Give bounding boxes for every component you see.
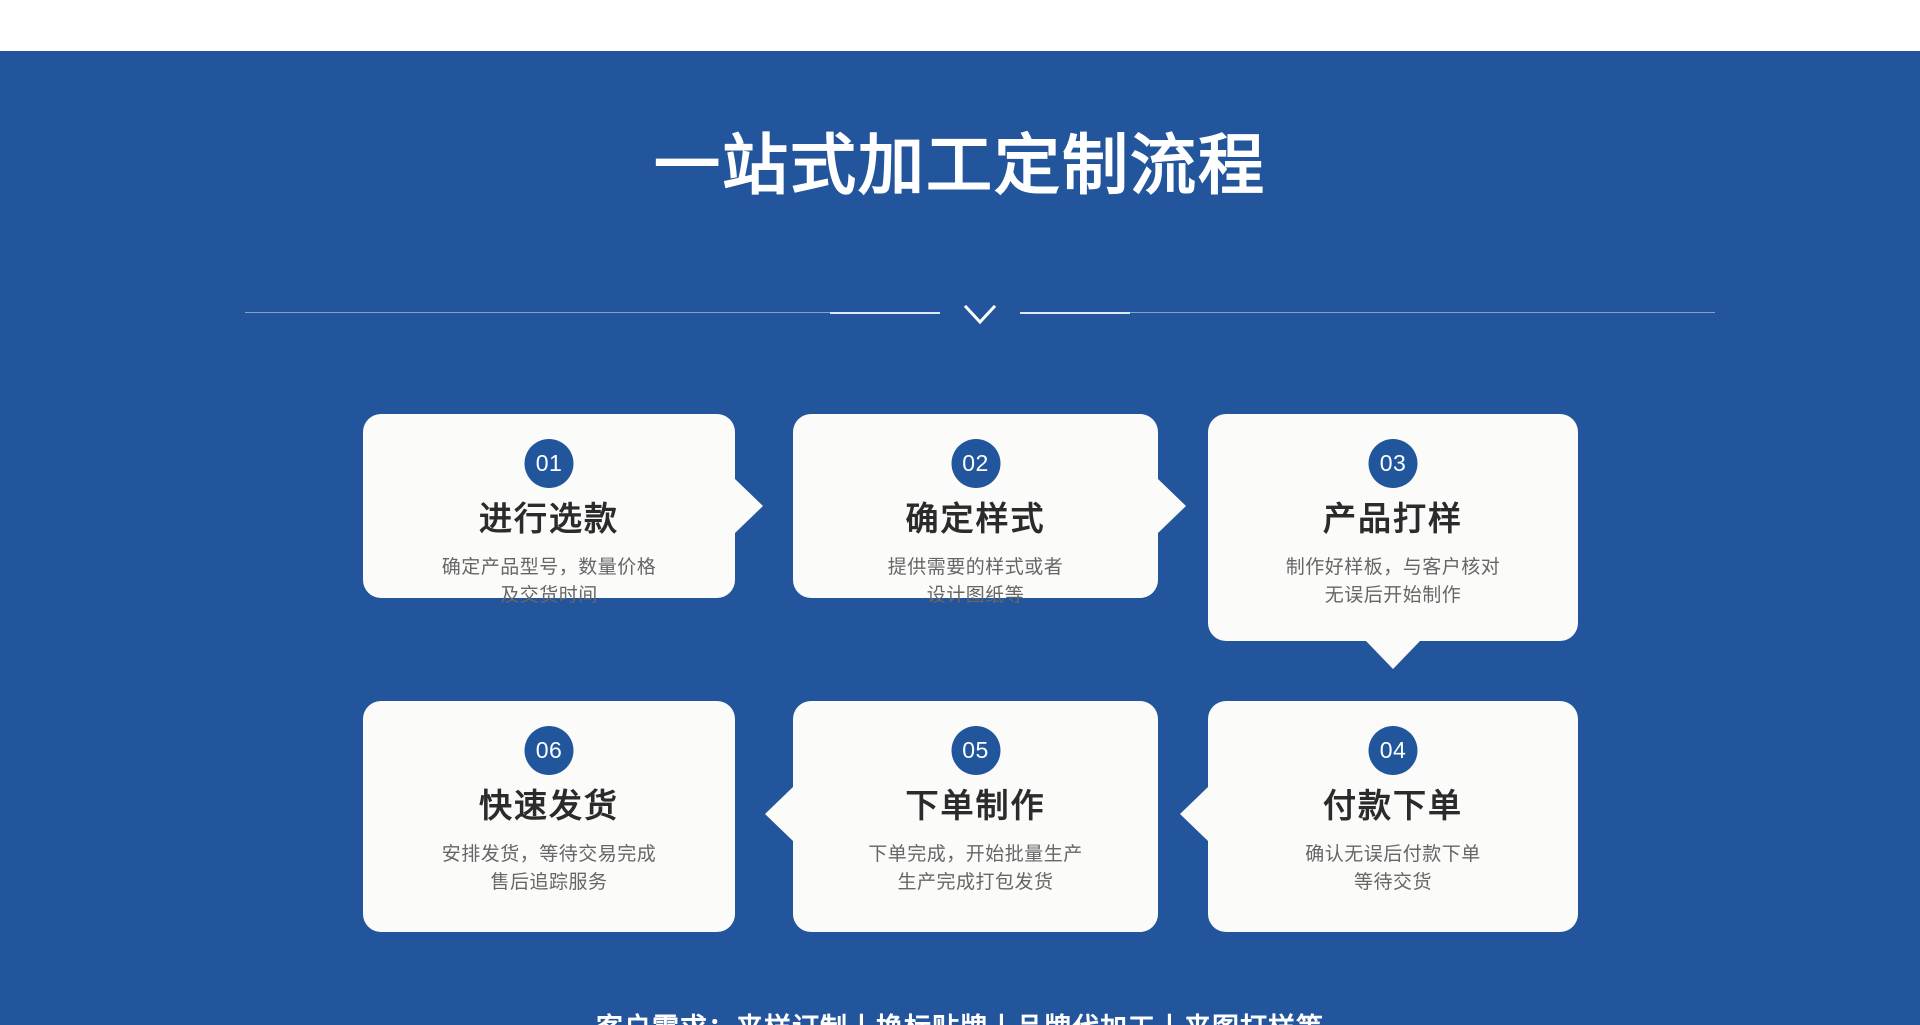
step-description: 确认无误后付款下单 等待交货: [1208, 841, 1578, 896]
process-card-05[interactable]: 05 下单制作 下单完成，开始批量生产 生产完成打包发货: [793, 701, 1158, 932]
process-card-02[interactable]: 02 确定样式 提供需要的样式或者 设计图纸等: [793, 414, 1158, 598]
step-number-badge: 03: [1369, 439, 1418, 488]
step-title: 快速发货: [363, 786, 735, 826]
step-number-badge: 06: [525, 726, 574, 775]
step-title: 付款下单: [1208, 786, 1578, 826]
step-description-line2: 生产完成打包发货: [793, 869, 1158, 897]
step-description-line1: 确认无误后付款下单: [1208, 841, 1578, 869]
process-card-01[interactable]: 01 进行选款 确定产品型号，数量价格 及交货时间: [363, 414, 735, 598]
step-description-line2: 无误后开始制作: [1208, 582, 1578, 610]
step-description-line2: 及交货时间: [363, 582, 735, 610]
section-divider: [245, 298, 1715, 328]
step-description-line1: 提供需要的样式或者: [793, 554, 1158, 582]
step-description: 安排发货，等待交易完成 售后追踪服务: [363, 841, 735, 896]
process-card-04[interactable]: 04 付款下单 确认无误后付款下单 等待交货: [1208, 701, 1578, 932]
step-number-badge: 04: [1369, 726, 1418, 775]
step-description: 制作好样板，与客户核对 无误后开始制作: [1208, 554, 1578, 609]
top-white-strip: [0, 0, 1920, 51]
step-description: 确定产品型号，数量价格 及交货时间: [363, 554, 735, 609]
chevron-down-icon: [963, 304, 997, 326]
step-description: 提供需要的样式或者 设计图纸等: [793, 554, 1158, 609]
slide-root: 一站式加工定制流程 01 进行选款 确定产品型号，数量价格 及交货时间: [0, 0, 1920, 1025]
divider-rule-right: [1060, 312, 1715, 313]
process-card-03[interactable]: 03 产品打样 制作好样板，与客户核对 无误后开始制作: [1208, 414, 1578, 641]
step-description-line2: 售后追踪服务: [363, 869, 735, 897]
arrow-left-icon-05-to-06: [765, 787, 793, 841]
step-title: 确定样式: [793, 499, 1158, 539]
arrow-right-icon-01-to-02: [735, 479, 763, 533]
step-description-line1: 制作好样板，与客户核对: [1208, 554, 1578, 582]
step-number-badge: 02: [951, 439, 1000, 488]
step-description-line1: 安排发货，等待交易完成: [363, 841, 735, 869]
step-description-line1: 下单完成，开始批量生产: [793, 841, 1158, 869]
blue-stage: 一站式加工定制流程 01 进行选款 确定产品型号，数量价格 及交货时间: [0, 51, 1920, 1025]
step-title: 产品打样: [1208, 499, 1578, 539]
arrow-right-icon-02-to-03: [1158, 479, 1186, 533]
divider-accent-left: [830, 312, 940, 314]
divider-rule-left: [245, 312, 900, 313]
arrow-down-icon-03-to-04: [1366, 641, 1420, 669]
step-title: 进行选款: [363, 499, 735, 539]
step-description: 下单完成，开始批量生产 生产完成打包发货: [793, 841, 1158, 896]
arrow-left-icon-04-to-05: [1180, 787, 1208, 841]
step-description-line1: 确定产品型号，数量价格: [363, 554, 735, 582]
footer-note: 客户需求：来样订制丨换标贴牌丨品牌代加工丨来图打样等: [0, 1006, 1920, 1025]
step-description-line2: 设计图纸等: [793, 582, 1158, 610]
page-title: 一站式加工定制流程: [0, 129, 1920, 202]
step-description-line2: 等待交货: [1208, 869, 1578, 897]
step-number-badge: 05: [951, 726, 1000, 775]
step-number-badge: 01: [525, 439, 574, 488]
process-card-06[interactable]: 06 快速发货 安排发货，等待交易完成 售后追踪服务: [363, 701, 735, 932]
divider-accent-right: [1020, 312, 1130, 314]
step-title: 下单制作: [793, 786, 1158, 826]
